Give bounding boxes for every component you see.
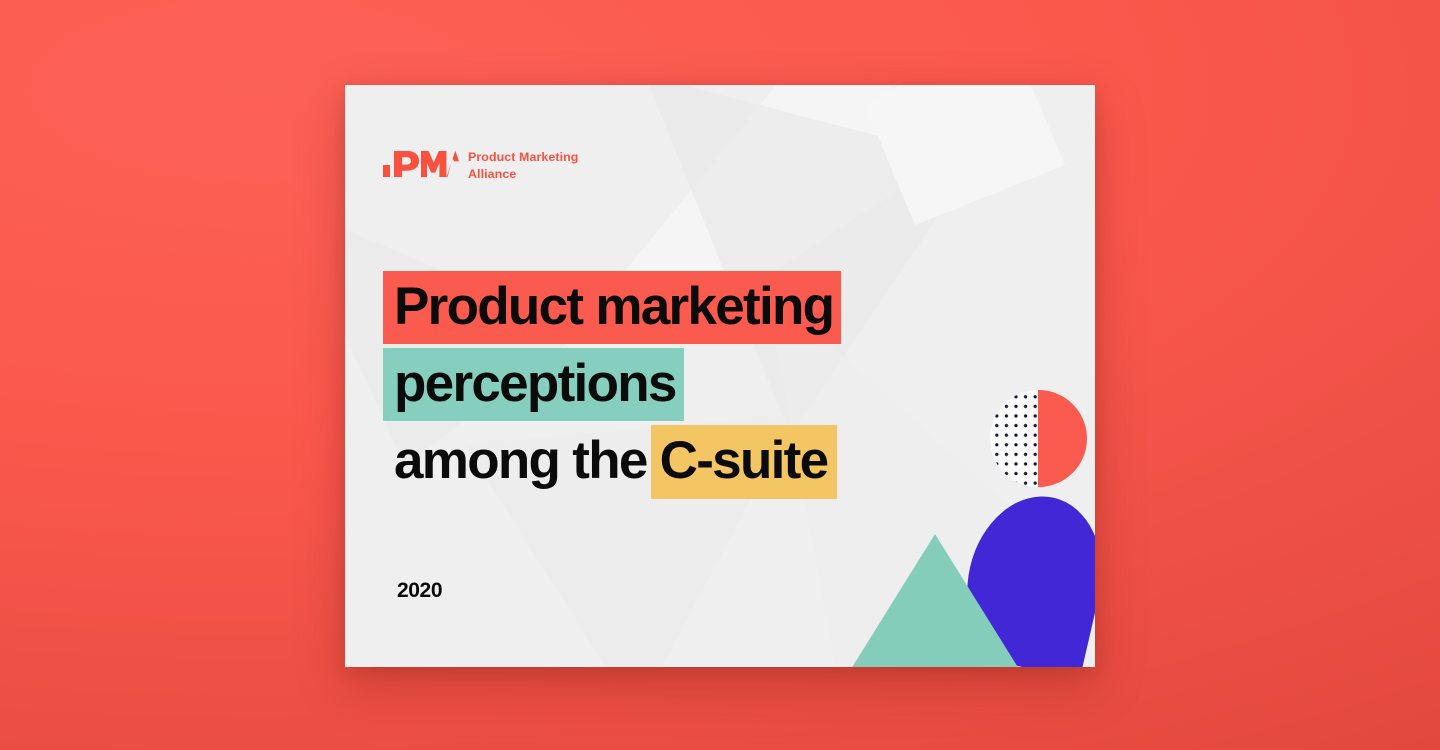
blue-teardrop-icon xyxy=(951,483,1095,667)
title-line-2-text: perceptions xyxy=(383,348,684,421)
title-line-1: Product marketing xyxy=(383,271,1003,344)
coral-half-circle-icon xyxy=(1038,390,1087,487)
pma-logo-icon xyxy=(383,147,459,183)
slide-title: Product marketing perceptions among the … xyxy=(383,271,1003,499)
brand-logo[interactable]: Product Marketing Alliance xyxy=(383,147,578,183)
slide-card: Product Marketing Alliance Product marke… xyxy=(345,85,1095,667)
green-triangle-icon xyxy=(851,534,1019,667)
title-line-3-highlight-text: C-suite xyxy=(651,425,838,498)
title-line-3-plain-text: among the xyxy=(383,425,651,498)
title-line-2: perceptions xyxy=(383,348,1003,421)
title-line-3: among the C-suite xyxy=(383,425,1003,498)
brand-wordmark: Product Marketing Alliance xyxy=(468,148,578,182)
title-line-1-text: Product marketing xyxy=(383,271,841,344)
slide-year: 2020 xyxy=(397,579,442,603)
bg-texture-shape xyxy=(865,85,1065,225)
